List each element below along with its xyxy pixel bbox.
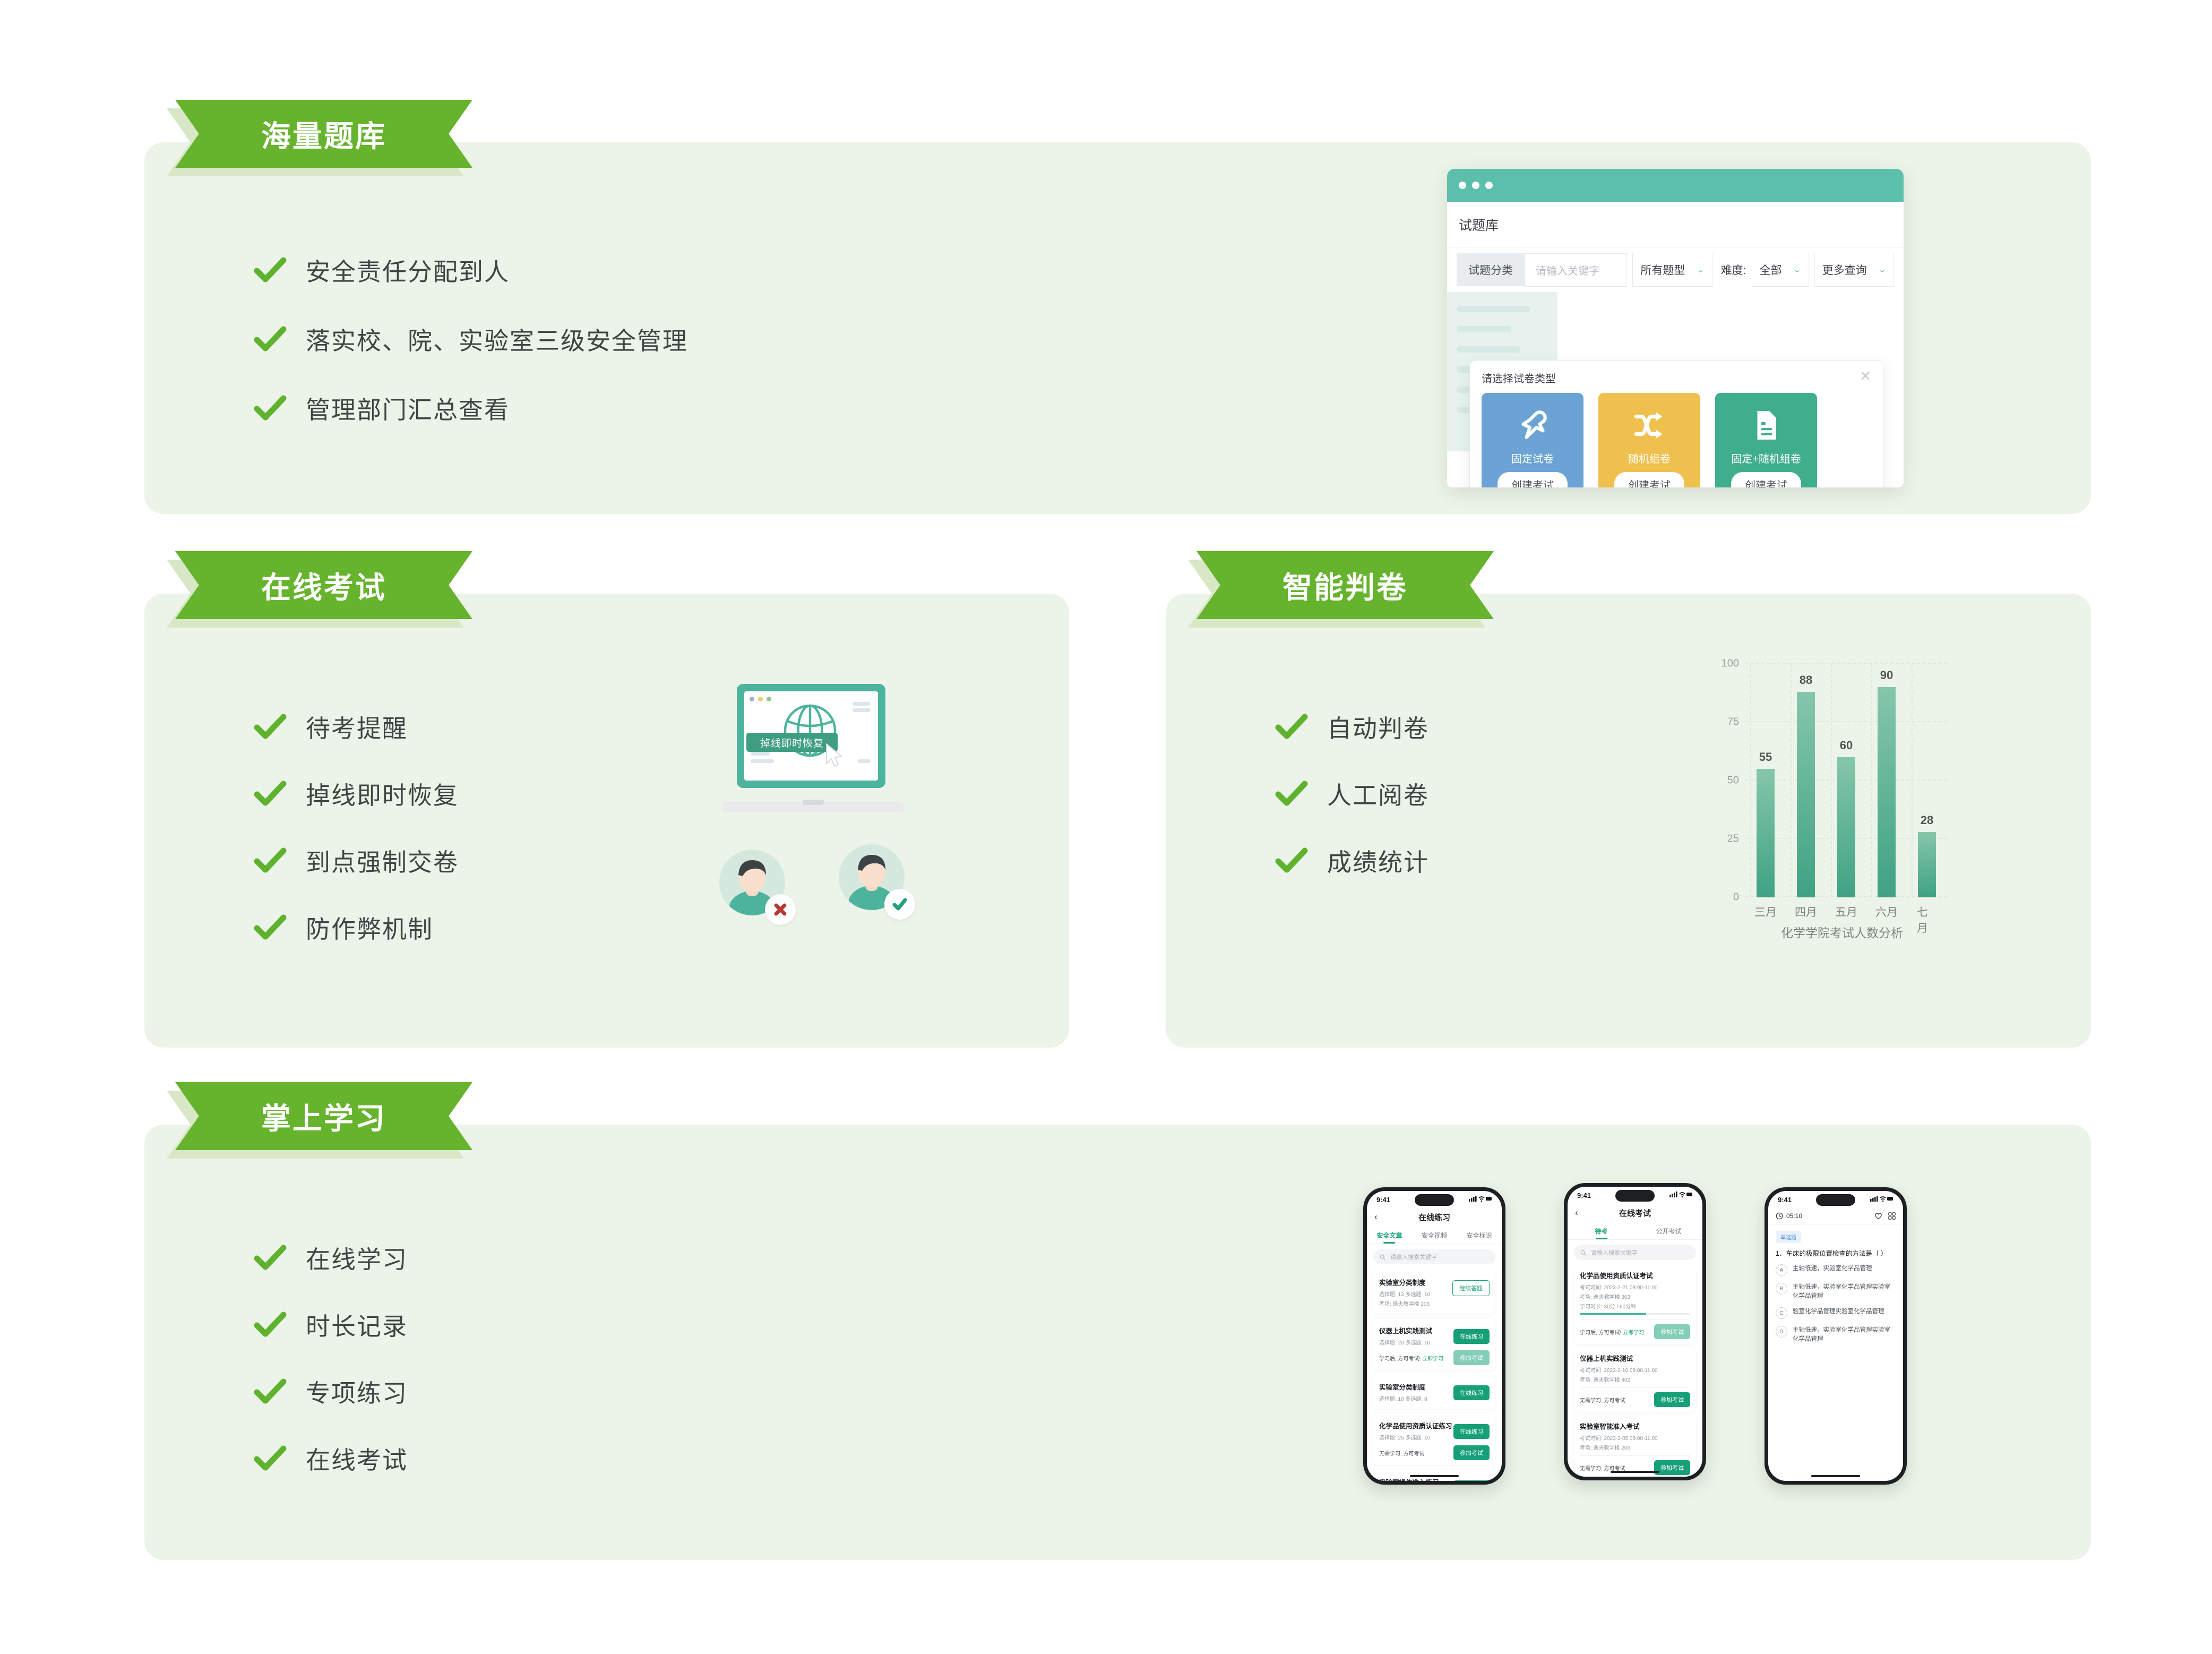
checklist-mobile-learning: 在线学习 时长记录 专项练习 在线考试 [249, 1237, 408, 1505]
list-item-label: 成绩统计 [1327, 843, 1429, 878]
tab-signs[interactable]: 安全标识 [1457, 1226, 1502, 1244]
close-icon [772, 902, 788, 918]
list-item: 待考提醒 [249, 706, 459, 748]
tab-bar: 安全文章 安全视频 安全标识 [1367, 1226, 1502, 1244]
status-time: 9:41 [1778, 1196, 1792, 1204]
bar-value-label: 90 [1880, 669, 1893, 682]
placeholder-line [858, 759, 871, 763]
y-axis-tick-label: 100 [1722, 658, 1739, 670]
question-type-select[interactable]: 所有题型 ⌄ [1632, 253, 1712, 287]
y-axis-tick-label: 0 [1733, 892, 1739, 904]
list-item[interactable]: 仪器上机实践测试 选择题: 20 多选题: 10 在线练习 学习后, 方可考试!… [1373, 1318, 1495, 1370]
bar: 55 [1757, 769, 1775, 897]
practice-button[interactable]: 在线练习 [1453, 1385, 1490, 1400]
page-title: 在线考试 [1619, 1207, 1651, 1219]
check-icon [249, 319, 291, 360]
join-exam-button[interactable]: 参加考试 [1654, 1460, 1690, 1475]
item-note: 无需学习, 方可考试 [1379, 1449, 1425, 1457]
quiz-timer: 05:10 [1786, 1212, 1802, 1220]
chevron-left-icon[interactable]: ‹ [1374, 1212, 1378, 1222]
option-key: B [1776, 1283, 1787, 1295]
status-badge-fail [765, 894, 796, 925]
modal-card-list: 固定试卷 创建考试 随机组卷 创建考试 固定+随机组 [1482, 393, 1871, 487]
bar-value-label: 55 [1759, 750, 1772, 764]
question-type-badge: 单选题 [1776, 1231, 1801, 1243]
list-item: 成绩统计 [1271, 840, 1429, 881]
practice-button[interactable]: 在线练习 [1453, 1480, 1490, 1481]
cursor-icon [824, 742, 846, 768]
check-icon [249, 388, 291, 429]
x-axis-tick-label: 三月 [1754, 904, 1777, 920]
phone-mockup-quiz: 9:41 05:10 [1765, 1187, 1907, 1485]
window-dot-close-icon [1459, 182, 1466, 189]
divider [1580, 1455, 1690, 1456]
more-query-label: 更多查询 [1822, 262, 1867, 278]
tree-placeholder-line [1457, 346, 1520, 353]
check-icon [249, 840, 291, 881]
phone-mockup-exam: 9:41 ‹ 在线考试 待考 公开考试 请输入 [1564, 1183, 1706, 1480]
list-item[interactable]: 化学品使用资质认证练习 选择题: 25 多选题: 10 在线练习 无需学习, 方… [1373, 1413, 1495, 1465]
exam-time: 考试时间: 2023-2-10 08:00-11:00 [1580, 1366, 1690, 1374]
checklist-online-exam: 待考提醒 掉线即时恢复 到点强制交卷 防作弊机制 [249, 706, 459, 974]
status-icons [1870, 1195, 1893, 1204]
y-axis-tick-label: 50 [1727, 775, 1739, 787]
check-icon [891, 896, 908, 913]
quiz-toolbar: 05:10 [1768, 1208, 1903, 1224]
chevron-left-icon[interactable]: ‹ [1575, 1207, 1578, 1218]
difficulty-select[interactable]: 全部 ⌄ [1752, 253, 1809, 287]
list-item: 人工阅卷 [1271, 773, 1429, 815]
exam-room: 考场: 逸夫教学楼 206 [1580, 1443, 1690, 1451]
status-time: 9:41 [1376, 1196, 1390, 1204]
list-item-label: 在线考试 [306, 1441, 408, 1476]
list-item[interactable]: 仪器上机实践测试 考试时间: 2023-2-10 08:00-11:00 考场:… [1574, 1348, 1696, 1412]
list-item[interactable]: 实验室智能准入考试 考试时间: 2023-2-05 08:00-11:00 考场… [1574, 1416, 1696, 1477]
check-icon [249, 1371, 291, 1412]
list-item[interactable]: 实验室分类制度 选择题: 10 多选题: 8 在线练习 [1373, 1374, 1495, 1409]
check-icon [1271, 840, 1312, 881]
search-placeholder: 请输入搜索关键字 [1390, 1253, 1437, 1261]
option-key: D [1776, 1326, 1787, 1338]
option-row[interactable]: A 主轴低速，实验室化学品管理 [1768, 1264, 1903, 1276]
option-key: C [1776, 1307, 1787, 1319]
heart-icon[interactable] [1874, 1212, 1882, 1220]
option-text: 主轴低速，实验室化学品管理实验室化学品管理 [1793, 1283, 1896, 1300]
list-item: 在线学习 [249, 1237, 408, 1279]
list-item-label: 掉线即时恢复 [306, 776, 459, 811]
paper-type-modal: 请选择试卷类型 ✕ 固定试卷 创建考试 随机组卷 [1469, 360, 1883, 487]
window-dot-minimize-icon [758, 697, 763, 701]
bar: 60 [1837, 757, 1855, 897]
search-input[interactable]: 请输入搜索关键字 [1373, 1249, 1495, 1264]
check-icon [249, 250, 291, 291]
question-text: 1、车床的极限位置检查的方法是（ ） [1768, 1248, 1903, 1258]
list-item-label: 到点强制交卷 [306, 843, 459, 878]
exam-room: 考场: 逸夫教学楼 303 [1580, 1292, 1690, 1300]
check-icon [1271, 773, 1312, 815]
list-item: 时长记录 [249, 1304, 408, 1346]
grid-icon[interactable] [1888, 1212, 1896, 1220]
list-item-label: 落实校、院、实验室三级安全管理 [306, 322, 688, 357]
tree-placeholder-line [1457, 326, 1511, 332]
chart-caption: 化学学院考试人数分析 [1720, 923, 1964, 941]
phone-screen: 9:41 05:10 [1768, 1191, 1903, 1481]
window-dot-maximize-icon [767, 697, 771, 701]
exam-time: 考试时间: 2023-2-05 08:00-11:00 [1580, 1434, 1690, 1442]
join-exam-button[interactable]: 参加考试 [1453, 1350, 1490, 1365]
grid-line [1750, 664, 1751, 897]
pin-icon [1515, 402, 1550, 448]
study-now-link[interactable]: 立即学习 [1623, 1330, 1644, 1336]
question-type-value: 所有题型 [1640, 262, 1685, 278]
item-title: 实验室分类制度 [1379, 1382, 1427, 1392]
option-row[interactable]: C 验室化学品管理实验室化学品管理 [1768, 1307, 1903, 1319]
search-icon [1380, 1254, 1385, 1260]
tab-bar: 待考 公开考试 [1568, 1222, 1702, 1240]
browser-body: 请选择试卷类型 ✕ 固定试卷 创建考试 随机组卷 [1447, 292, 1904, 451]
tab-pending[interactable]: 待考 [1568, 1222, 1635, 1239]
grid-line [1831, 664, 1832, 897]
bar: 28 [1918, 832, 1936, 897]
join-exam-button[interactable]: 参加考试 [1654, 1392, 1690, 1407]
bar-value-label: 28 [1921, 813, 1933, 827]
close-icon[interactable]: ✕ [1860, 369, 1871, 383]
dynamic-island [1615, 1190, 1655, 1202]
check-icon [249, 907, 291, 948]
feature-overview-page: 海量题库 安全责任分配到人 落实校、院、实验室三级安全管理 管理部门汇总查看 试… [0, 0, 2212, 1654]
banner-label: 在线考试 [261, 564, 386, 607]
list-item-label: 人工阅卷 [1327, 776, 1429, 811]
item-note: 无需学习, 方可考试 [1580, 1396, 1625, 1404]
paper-type-card-random[interactable]: 随机组卷 创建考试 [1598, 393, 1700, 487]
clock-icon [1776, 1212, 1783, 1220]
paper-type-card-fixed[interactable]: 固定试卷 创建考试 [1482, 393, 1583, 487]
item-meta: 选择题: 10 多选题: 8 [1379, 1394, 1427, 1402]
laptop-screen: 掉线即时恢复 [737, 684, 885, 788]
search-placeholder: 请输入搜索关键字 [1591, 1248, 1638, 1257]
y-axis-tick-label: 25 [1727, 833, 1739, 845]
item-meta: 选择题: 25 多选题: 10 [1379, 1433, 1452, 1441]
create-exam-button[interactable]: 创建考试 [1497, 472, 1568, 487]
list-item-label: 在线学习 [306, 1240, 408, 1275]
exam-room: 考场: 逸夫教学楼 402 [1580, 1375, 1690, 1383]
tab-public[interactable]: 公开考试 [1635, 1222, 1702, 1239]
exam-attendance-bar-chart: 025507510055三月88四月60五月90六月28七月 化学学院考试人数分… [1720, 653, 1964, 972]
phone-screen: 9:41 ‹ 在线考试 待考 公开考试 请输入 [1568, 1187, 1702, 1477]
avatar-blocked [719, 850, 794, 924]
check-icon [249, 1438, 291, 1479]
list-item-label: 时长记录 [306, 1307, 408, 1342]
option-row[interactable]: D 主轴低速，实验室化学品管理实验室化学品管理 [1768, 1326, 1903, 1343]
paper-type-name: 固定试卷 [1511, 450, 1554, 466]
study-now-link[interactable]: 立即学习 [1422, 1356, 1443, 1362]
status-icons [1469, 1195, 1492, 1204]
laptop-screen-content: 掉线即时恢复 [744, 691, 878, 781]
laptop-illustration: 掉线即时恢复 [723, 684, 925, 817]
modal-title: 请选择试卷类型 [1482, 370, 1871, 385]
list-item: 专项练习 [249, 1371, 408, 1412]
create-exam-button[interactable]: 创建考试 [1614, 472, 1684, 487]
browser-toolbar: 试题分类 请输入关键字 所有题型 ⌄ 难度: 全部 ⌄ 更多查询 ⌄ [1447, 247, 1904, 292]
tab-videos[interactable]: 安全视频 [1412, 1226, 1457, 1244]
chevron-down-icon: ⌄ [1697, 264, 1704, 275]
item-note: 考场: 逸夫教学楼 203 [1379, 1299, 1490, 1307]
window-dot-close-icon [750, 697, 754, 701]
list-item: 防作弊机制 [249, 907, 459, 948]
join-exam-button[interactable]: 参加考试 [1654, 1324, 1690, 1339]
bar: 88 [1797, 692, 1815, 897]
checklist-smart-grading: 自动判卷 人工阅卷 成绩统计 [1271, 706, 1429, 907]
check-icon [249, 706, 291, 748]
home-indicator [1811, 1475, 1860, 1477]
status-icons [1669, 1191, 1693, 1199]
nav-bar: ‹ 在线考试 [1568, 1204, 1702, 1222]
chevron-down-icon: ⌄ [1794, 264, 1801, 275]
dynamic-island [1816, 1194, 1855, 1206]
chart-plot-area: 025507510055三月88四月60五月90六月28七月 [1745, 664, 1947, 897]
avatar-verified [839, 844, 913, 919]
window-dot-maximize-icon [1485, 182, 1493, 189]
bar: 90 [1878, 687, 1896, 897]
chevron-down-icon: ⌄ [1879, 264, 1886, 275]
divider [1580, 1319, 1690, 1320]
grid-line [1912, 664, 1913, 897]
item-title: 实验室分类制度 [1379, 1277, 1430, 1287]
placeholder-line [751, 752, 770, 756]
option-key: A [1776, 1264, 1787, 1276]
continue-answer-button[interactable]: 继续答题 [1452, 1280, 1490, 1296]
window-dot-minimize-icon [1472, 182, 1479, 189]
search-input[interactable]: 请输入关键字 [1525, 253, 1627, 287]
list-item-label: 自动判卷 [1327, 709, 1429, 744]
placeholder-line [853, 708, 871, 712]
item-title: 实验室操作准入练习 [1379, 1477, 1439, 1481]
grid-line: 100 [1745, 663, 1947, 664]
list-item: 落实校、院、实验室三级安全管理 [249, 319, 688, 360]
document-icon [1749, 402, 1784, 448]
list-item: 在线考试 [249, 1438, 408, 1479]
practice-button[interactable]: 在线练习 [1453, 1329, 1490, 1344]
more-query-button[interactable]: 更多查询 ⌄ [1814, 253, 1894, 287]
status-time: 9:41 [1577, 1192, 1591, 1199]
status-badge-pass [884, 889, 915, 920]
home-indicator [1410, 1475, 1459, 1477]
difficulty-label: 难度: [1721, 262, 1746, 278]
nav-bar: ‹ 在线练习 [1367, 1208, 1502, 1226]
banner-label: 掌上学习 [261, 1095, 386, 1138]
paper-type-name: 固定+随机组卷 [1731, 450, 1801, 466]
list-item-label: 管理部门汇总查看 [306, 391, 510, 426]
item-note: 学习后, 方可考试! [1580, 1330, 1621, 1336]
list-item-label: 专项练习 [306, 1374, 408, 1409]
study-duration: 学习时长: 30分 / 60分钟 [1580, 1302, 1690, 1310]
dynamic-island [1415, 1194, 1454, 1206]
divider [1580, 1387, 1690, 1388]
section-banner-question-bank: 海量题库 [175, 100, 472, 168]
join-exam-button[interactable]: 参加考试 [1453, 1445, 1490, 1460]
list-item: 自动判卷 [1271, 706, 1429, 748]
bar-value-label: 88 [1800, 673, 1812, 687]
phone-mockup-practice: 9:41 ‹ 在线练习 安全文章 安全视频 安全标识 [1363, 1187, 1505, 1485]
option-text: 主轴低速，实验室化学品管理实验室化学品管理 [1793, 1326, 1896, 1343]
practice-button[interactable]: 在线练习 [1453, 1424, 1490, 1439]
tab-articles[interactable]: 安全文章 [1367, 1226, 1412, 1244]
page-title: 试题库 [1447, 202, 1904, 247]
paper-type-name: 随机组卷 [1628, 450, 1671, 466]
exam-time: 考试时间: 2023-2-21 08:00-11:00 [1580, 1283, 1690, 1291]
x-axis-tick-label: 六月 [1875, 904, 1898, 920]
paper-type-card-mixed[interactable]: 固定+随机组卷 创建考试 [1715, 393, 1817, 487]
check-icon [249, 1304, 291, 1346]
option-row[interactable]: B 主轴低速，实验室化学品管理实验室化学品管理 [1768, 1283, 1903, 1300]
bar-value-label: 60 [1840, 739, 1853, 752]
home-indicator [1611, 1471, 1659, 1473]
item-title: 实验室智能准入考试 [1580, 1421, 1690, 1431]
check-icon [249, 1237, 291, 1279]
search-input[interactable]: 请输入搜索关键字 [1574, 1245, 1696, 1260]
x-axis-tick-label: 四月 [1795, 904, 1817, 920]
option-text: 验室化学品管理实验室化学品管理 [1793, 1307, 1884, 1316]
item-meta: 选择题: 13 多选题: 10 [1379, 1290, 1430, 1298]
search-icon [1580, 1250, 1586, 1256]
create-exam-button[interactable]: 创建考试 [1731, 472, 1801, 487]
placeholder-line [751, 759, 774, 763]
section-banner-online-exam: 在线考试 [175, 551, 472, 619]
list-item: 安全责任分配到人 [249, 250, 688, 291]
section-banner-smart-grading: 智能判卷 [1197, 551, 1494, 619]
banner-label: 海量题库 [261, 113, 386, 156]
grid-line [1791, 664, 1792, 897]
phone-screen: 9:41 ‹ 在线练习 安全文章 安全视频 安全标识 [1367, 1191, 1502, 1481]
banner-label: 智能判卷 [1283, 564, 1408, 607]
difficulty-value: 全部 [1760, 262, 1782, 278]
tree-placeholder-line [1457, 306, 1530, 312]
shuffle-icon [1632, 402, 1667, 448]
browser-mockup-question-bank: 试题库 试题分类 请输入关键字 所有题型 ⌄ 难度: 全部 ⌄ 更多查询 ⌄ [1447, 169, 1904, 487]
list-item[interactable]: 实验室分类制度 选择题: 13 多选题: 10 继续答题 考场: 逸夫教学楼 2… [1373, 1270, 1495, 1314]
progress-bar [1580, 1313, 1690, 1315]
grid-line [1871, 664, 1872, 897]
item-title: 仪器上机实践测试 [1379, 1325, 1432, 1335]
list-item-label: 安全责任分配到人 [306, 253, 510, 288]
list-item[interactable]: 化学品使用资质认证考试 考试时间: 2023-2-21 08:00-11:00 … [1574, 1265, 1696, 1344]
list-item: 管理部门汇总查看 [249, 388, 688, 429]
list-item: 掉线即时恢复 [249, 773, 459, 815]
x-axis-tick-label: 五月 [1835, 904, 1857, 920]
check-icon [1271, 706, 1312, 748]
section-banner-mobile-learning: 掌上学习 [175, 1082, 472, 1150]
placeholder-line [853, 702, 871, 706]
option-text: 主轴低速，实验室化学品管理 [1793, 1264, 1872, 1273]
page-title: 在线练习 [1418, 1212, 1450, 1223]
window-dots [750, 697, 771, 701]
list-item-label: 待考提醒 [306, 709, 408, 744]
y-axis-tick-label: 75 [1727, 716, 1739, 729]
item-meta: 选择题: 20 多选题: 10 [1379, 1338, 1432, 1346]
browser-titlebar [1447, 169, 1904, 202]
list-item: 到点强制交卷 [249, 840, 459, 881]
grid-line: 75 [1745, 721, 1947, 722]
tab-question-category[interactable]: 试题分类 [1457, 253, 1525, 286]
laptop-notch [803, 800, 824, 805]
item-note: 学习后, 方可考试! [1379, 1356, 1421, 1362]
check-icon [249, 773, 291, 815]
item-title: 化学品使用资质认证练习 [1379, 1420, 1452, 1430]
list-item-label: 防作弊机制 [306, 910, 433, 945]
item-title: 化学品使用资质认证考试 [1580, 1270, 1690, 1280]
checklist-question-bank: 安全责任分配到人 落实校、院、实验室三级安全管理 管理部门汇总查看 [249, 250, 688, 457]
item-title: 仪器上机实践测试 [1580, 1353, 1690, 1363]
